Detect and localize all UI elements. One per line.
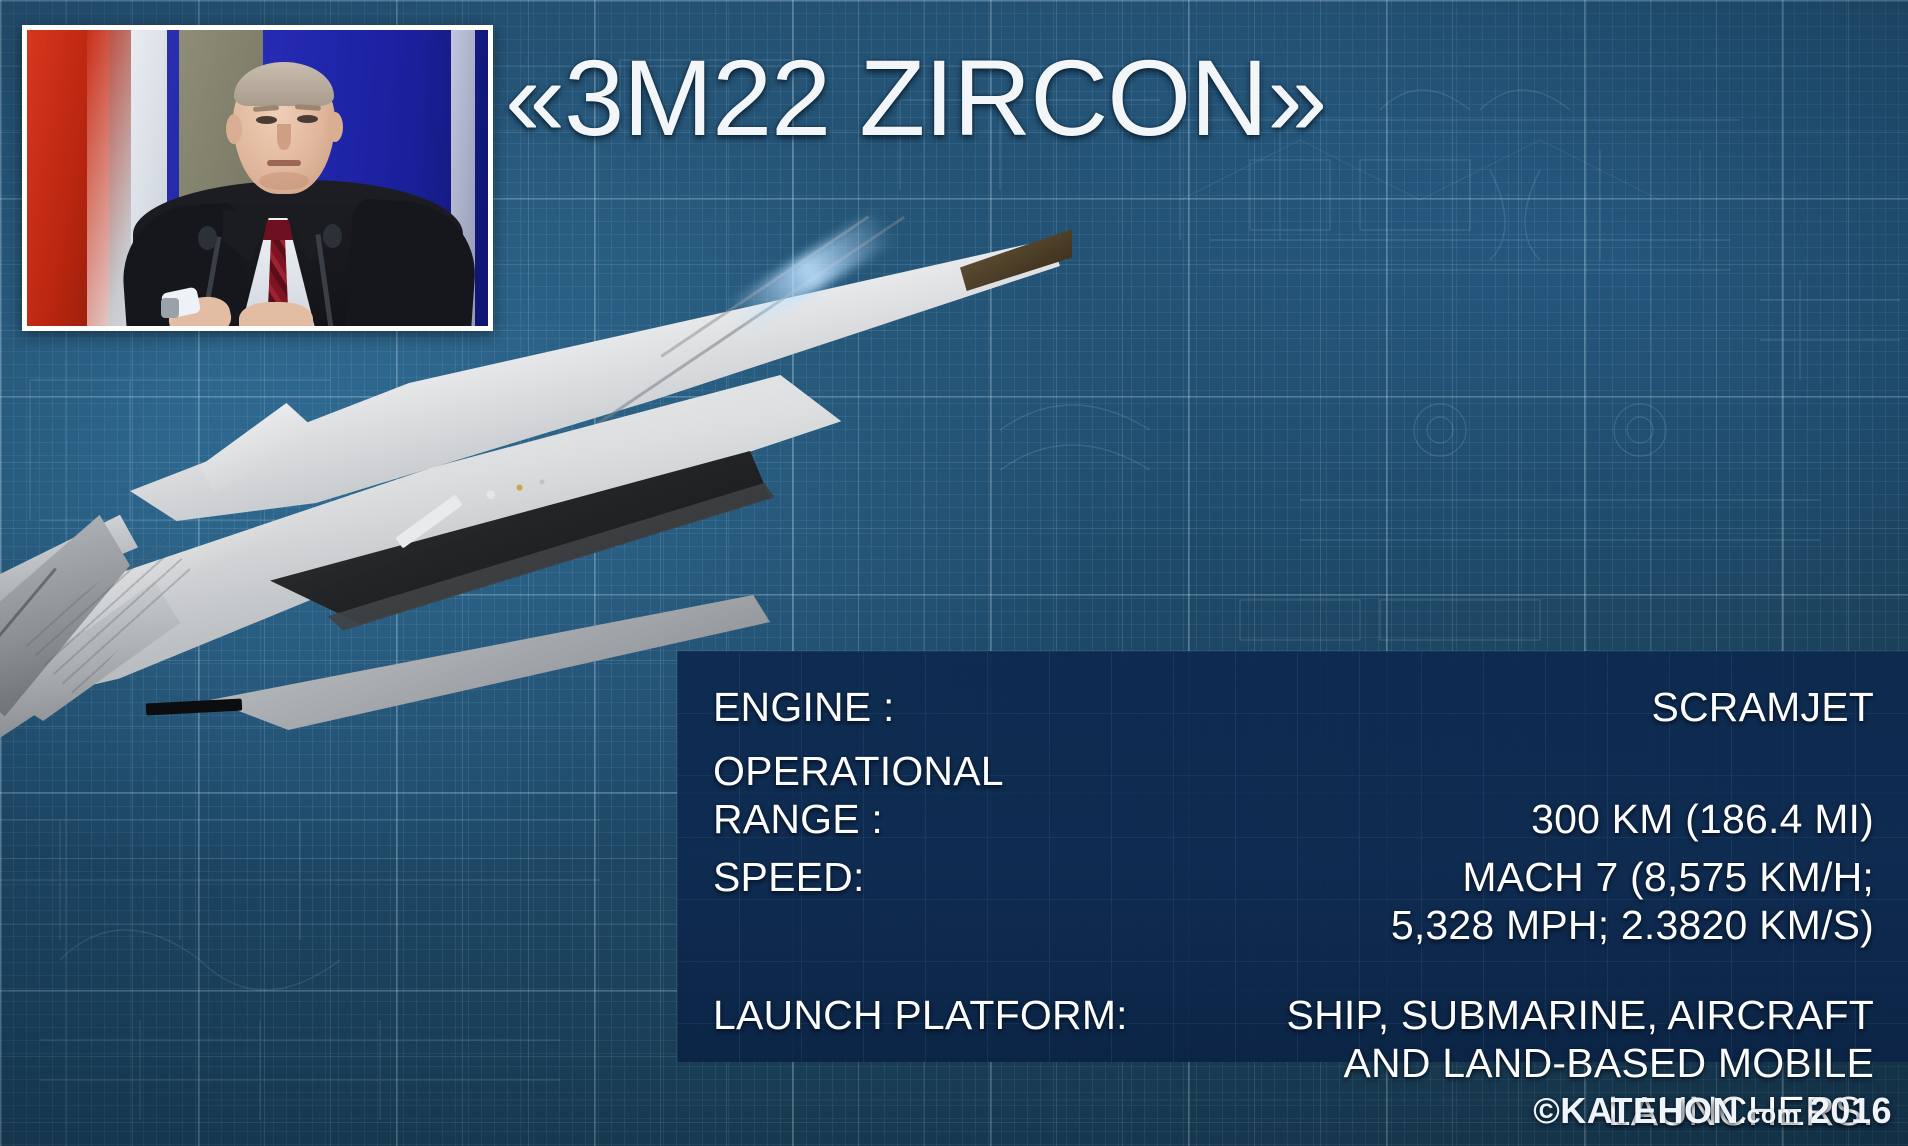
infographic-poster: «3M22 ZIRCON» ENGINE : SCRAMJET OPERATIO…: [0, 0, 1908, 1146]
putin-inset-photo: [22, 25, 493, 331]
spec-value-speed: MACH 7 (8,575 KM/H; 5,328 MPH; 2.3820 KM…: [1391, 853, 1874, 949]
watermark-domain: .com: [1739, 1101, 1799, 1129]
spec-label-speed: SPEED:: [713, 853, 865, 901]
spec-label-launch-platform: LAUNCH PLATFORM:: [713, 991, 1128, 1039]
spec-value-operational-range: 300 KM (186.4 MI): [1531, 795, 1874, 843]
specifications-panel: ENGINE : SCRAMJET OPERATIONAL RANGE : 30…: [677, 651, 1908, 1062]
watermark-copyright: ©KATEHON: [1533, 1090, 1739, 1131]
spec-row-engine: ENGINE : SCRAMJET: [713, 683, 1874, 731]
spec-label-operational-range: OPERATIONAL RANGE :: [713, 747, 1004, 843]
watermark: ©KATEHON.com 2016: [1533, 1090, 1892, 1132]
page-title: «3M22 ZIRCON»: [505, 44, 1900, 154]
spec-row-speed: SPEED: MACH 7 (8,575 KM/H; 5,328 MPH; 2.…: [713, 853, 1874, 949]
spec-value-engine: SCRAMJET: [1651, 683, 1874, 731]
watermark-year: 2016: [1799, 1090, 1892, 1131]
spec-row-operational-range: OPERATIONAL RANGE : 300 KM (186.4 MI): [713, 747, 1874, 843]
spec-label-engine: ENGINE :: [713, 683, 895, 731]
